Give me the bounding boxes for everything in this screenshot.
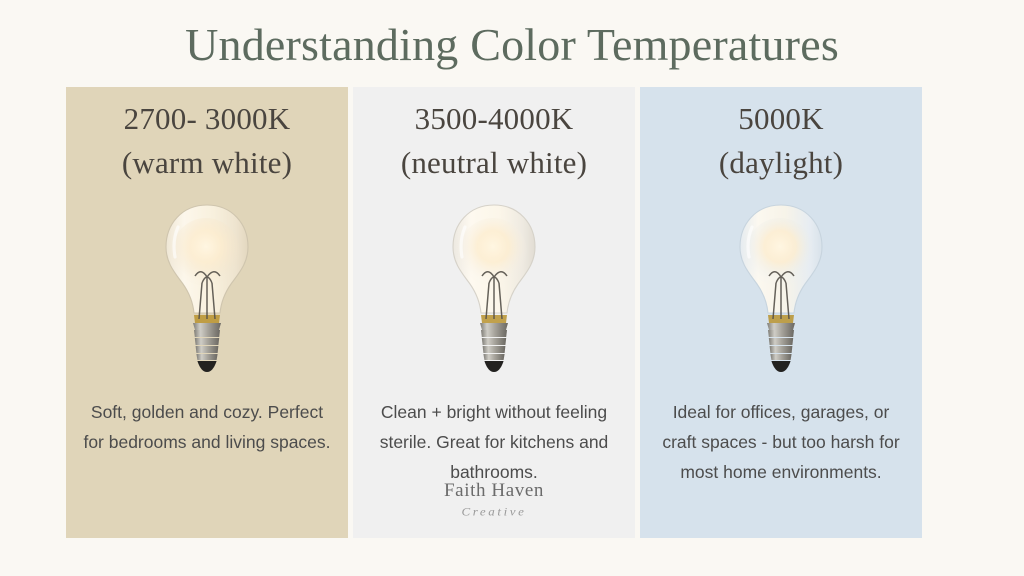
page-title: Understanding Color Temperatures	[0, 20, 1024, 71]
column-header-daylight: 5000K (daylight)	[640, 97, 922, 185]
column-header-line2: (daylight)	[646, 141, 916, 185]
column-daylight: 5000K (daylight)	[640, 87, 922, 538]
brand-tagline: Creative	[353, 505, 635, 519]
light-bulb-icon	[716, 197, 846, 377]
brand-name: Faith Haven	[353, 480, 635, 502]
light-bulb-icon	[429, 197, 559, 377]
column-description: Soft, golden and cozy. Perfect for bedro…	[66, 397, 348, 457]
column-header-line2: (warm white)	[72, 141, 342, 185]
column-header-neutral-white: 3500-4000K (neutral white)	[353, 97, 635, 185]
column-description: Ideal for offices, garages, or craft spa…	[640, 397, 922, 487]
column-warm-white: 2700- 3000K (warm white)	[66, 87, 348, 538]
column-header-line1: 2700- 3000K	[124, 101, 291, 136]
column-header-line1: 5000K	[738, 101, 823, 136]
light-bulb-icon	[142, 197, 272, 377]
brand-logo: Faith Haven Creative	[353, 480, 635, 520]
column-header-line1: 3500-4000K	[415, 101, 574, 136]
column-header-warm-white: 2700- 3000K (warm white)	[66, 97, 348, 185]
column-header-line2: (neutral white)	[359, 141, 629, 185]
column-description: Clean + bright without feeling sterile. …	[353, 397, 635, 487]
column-neutral-white: 3500-4000K (neutral white)	[353, 87, 635, 538]
color-temperature-columns: 2700- 3000K (warm white)	[66, 87, 922, 538]
